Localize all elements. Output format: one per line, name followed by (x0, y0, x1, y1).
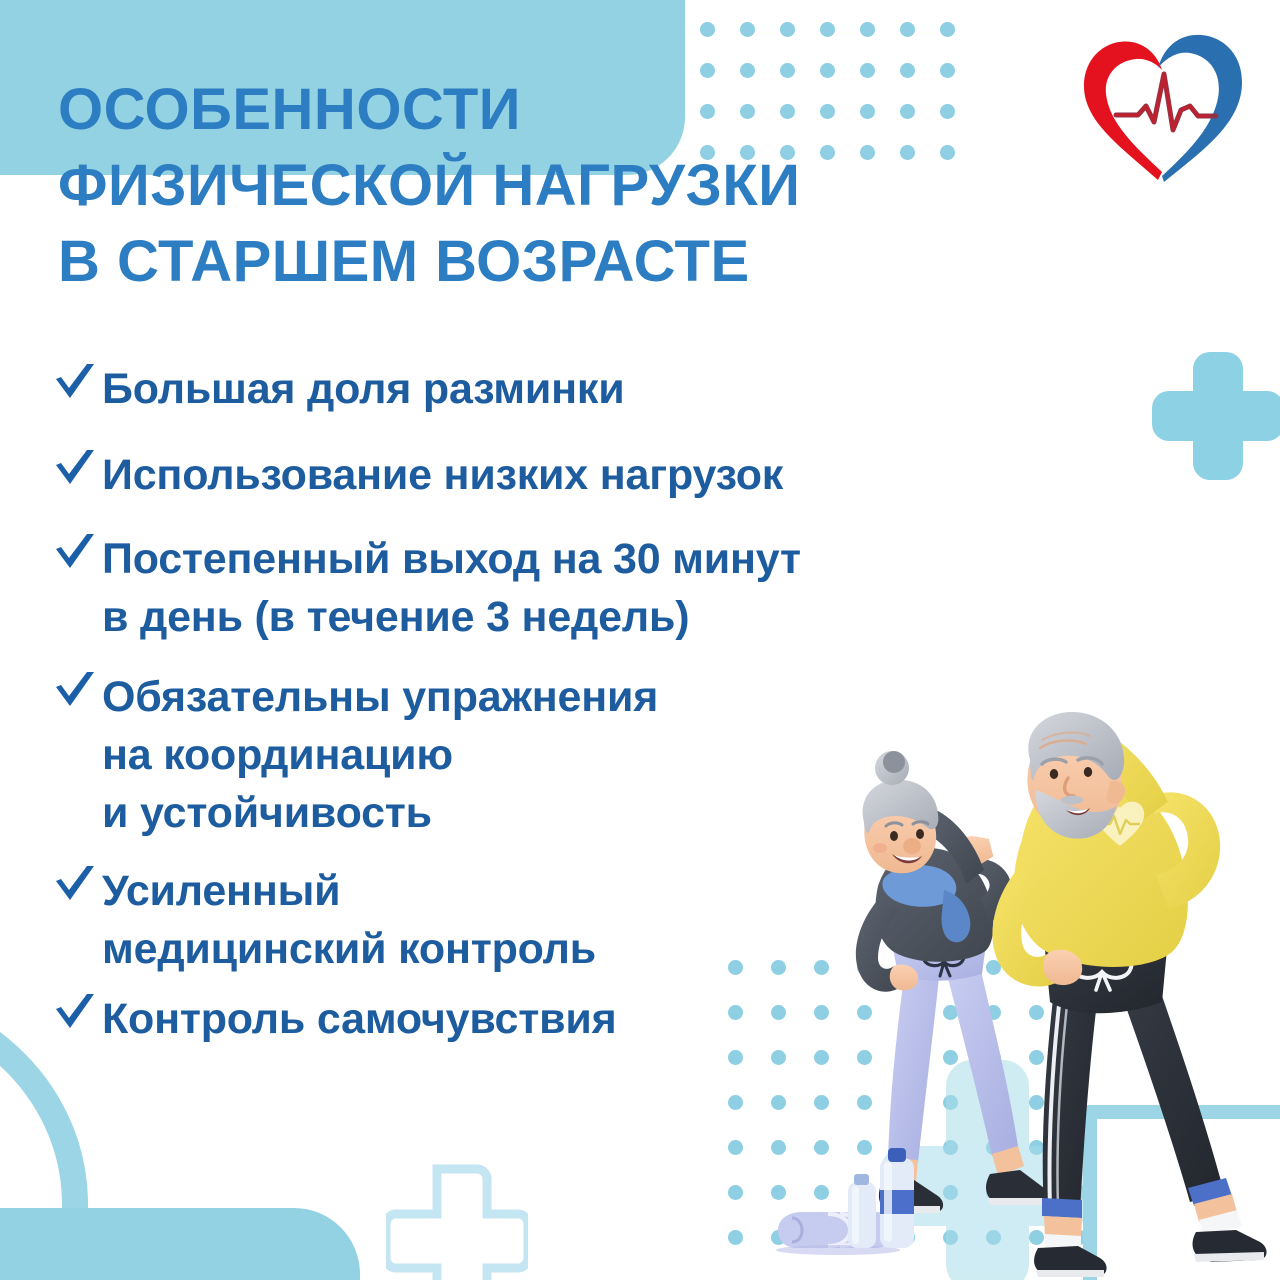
grid-dot (940, 63, 955, 78)
list-item-line: Усиленный (102, 862, 596, 920)
grid-dot (728, 1095, 743, 1110)
list-item: Большая доля разминки (52, 360, 1102, 418)
list-item-text: Обязательны упражнения на координацию и … (102, 668, 658, 842)
grid-dot (900, 22, 915, 37)
title-line-1: ОСОБЕННОСТИ (58, 72, 800, 148)
list-item-line: Использование низких нагрузок (102, 446, 783, 504)
medical-cross-outline-icon (386, 1162, 528, 1280)
bottom-left-block (0, 1208, 360, 1280)
grid-dot (940, 104, 955, 119)
grid-dot (700, 22, 715, 37)
list-item: Контроль самочувствия (52, 990, 1102, 1048)
list-item: Усиленный медицинский контроль (52, 862, 1102, 978)
list-item-line: Большая доля разминки (102, 360, 624, 418)
grid-dot (820, 22, 835, 37)
check-icon (52, 362, 100, 410)
list-item-line: медицинский контроль (102, 920, 596, 978)
list-item-line: и устойчивость (102, 784, 658, 842)
list-item-line: Обязательны упражнения (102, 668, 658, 726)
feature-list: Большая доля разминки Использование низк… (52, 360, 1102, 1062)
list-item-text: Большая доля разминки (102, 360, 624, 418)
list-item-text: Контроль самочувствия (102, 990, 616, 1048)
grid-dot (728, 1230, 743, 1245)
list-item: Постепенный выход на 30 минут в день (в … (52, 530, 1102, 646)
heart-ecg-logo (1078, 30, 1246, 190)
check-icon (52, 448, 100, 496)
grid-dot (940, 22, 955, 37)
list-item-line: на координацию (102, 726, 658, 784)
list-item-text: Использование низких нагрузок (102, 446, 783, 504)
grid-dot (900, 145, 915, 160)
grid-dot (820, 63, 835, 78)
page-title: ОСОБЕННОСТИ ФИЗИЧЕСКОЙ НАГРУЗКИ В СТАРШЕ… (58, 72, 800, 300)
grid-dot (860, 63, 875, 78)
grid-dot (900, 104, 915, 119)
list-item-line: Постепенный выход на 30 минут (102, 530, 801, 588)
grid-dot (860, 22, 875, 37)
grid-dot (940, 145, 955, 160)
list-item-line: в день (в течение 3 недель) (102, 588, 801, 646)
grid-dot (860, 145, 875, 160)
medical-cross-right-icon (1152, 352, 1280, 480)
check-icon (52, 532, 100, 580)
title-line-3: В СТАРШЕМ ВОЗРАСТЕ (58, 224, 800, 300)
grid-dot (780, 22, 795, 37)
list-item-text: Постепенный выход на 30 минут в день (в … (102, 530, 801, 646)
list-item: Обязательны упражнения на координацию и … (52, 668, 1102, 842)
check-icon (52, 670, 100, 718)
grid-dot (728, 1185, 743, 1200)
grid-dot (728, 1140, 743, 1155)
list-item-text: Усиленный медицинский контроль (102, 862, 596, 978)
check-icon (52, 864, 100, 912)
poster-canvas: ОСОБЕННОСТИ ФИЗИЧЕСКОЙ НАГРУЗКИ В СТАРШЕ… (0, 0, 1280, 1280)
grid-dot (860, 104, 875, 119)
exercise-props (776, 1148, 914, 1255)
grid-dot (900, 63, 915, 78)
title-line-2: ФИЗИЧЕСКОЙ НАГРУЗКИ (58, 148, 800, 224)
grid-dot (740, 22, 755, 37)
list-item-line: Контроль самочувствия (102, 990, 616, 1048)
list-item: Использование низких нагрузок (52, 446, 1102, 504)
check-icon (52, 992, 100, 1040)
grid-dot (820, 104, 835, 119)
grid-dot (820, 145, 835, 160)
